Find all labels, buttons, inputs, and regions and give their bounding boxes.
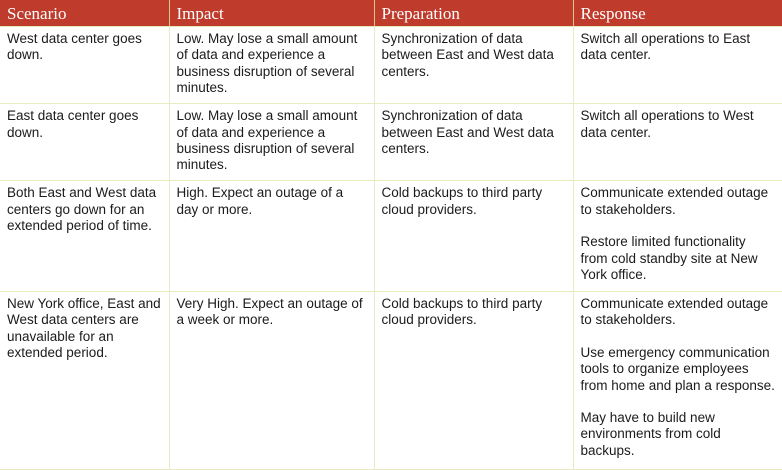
disaster-recovery-scenario-table: Scenario Impact Preparation Response Wes… — [0, 0, 782, 470]
cell-response: Switch all operations to West data cente… — [573, 104, 782, 181]
cell-preparation: Cold backups to third party cloud provid… — [374, 291, 573, 469]
cell-scenario: New York office, East and West data cent… — [0, 291, 169, 469]
table-row: West data center goes down. Low. May los… — [0, 27, 782, 104]
response-paragraph: Restore limited functionality from cold … — [581, 234, 777, 283]
response-paragraph: Switch all operations to East data cente… — [581, 31, 777, 64]
cell-impact: Very High. Expect an outage of a week or… — [169, 291, 374, 469]
cell-response: Switch all operations to East data cente… — [573, 27, 782, 104]
column-header-response: Response — [573, 0, 782, 27]
table-row: New York office, East and West data cent… — [0, 291, 782, 469]
response-paragraph: Communicate extended outage to stakehold… — [581, 185, 777, 218]
response-paragraph: Switch all operations to West data cente… — [581, 108, 777, 141]
cell-response: Communicate extended outage to stakehold… — [573, 291, 782, 469]
column-header-scenario: Scenario — [0, 0, 169, 27]
table-header: Scenario Impact Preparation Response — [0, 0, 782, 27]
table-row: East data center goes down. Low. May los… — [0, 104, 782, 181]
cell-scenario: Both East and West data centers go down … — [0, 181, 169, 292]
response-paragraph: Use emergency communication tools to org… — [581, 345, 777, 394]
cell-impact: High. Expect an outage of a day or more. — [169, 181, 374, 292]
table-body: West data center goes down. Low. May los… — [0, 27, 782, 470]
response-paragraph: Communicate extended outage to stakehold… — [581, 296, 777, 329]
cell-impact: Low. May lose a small amount of data and… — [169, 104, 374, 181]
cell-preparation: Synchronization of data between East and… — [374, 104, 573, 181]
cell-preparation: Cold backups to third party cloud provid… — [374, 181, 573, 292]
cell-preparation: Synchronization of data between East and… — [374, 27, 573, 104]
table-header-row: Scenario Impact Preparation Response — [0, 0, 782, 27]
table-row: Both East and West data centers go down … — [0, 181, 782, 292]
cell-scenario: West data center goes down. — [0, 27, 169, 104]
column-header-impact: Impact — [169, 0, 374, 27]
column-header-preparation: Preparation — [374, 0, 573, 27]
response-paragraph: May have to build new environments from … — [581, 410, 777, 459]
cell-impact: Low. May lose a small amount of data and… — [169, 27, 374, 104]
cell-response: Communicate extended outage to stakehold… — [573, 181, 782, 292]
cell-scenario: East data center goes down. — [0, 104, 169, 181]
